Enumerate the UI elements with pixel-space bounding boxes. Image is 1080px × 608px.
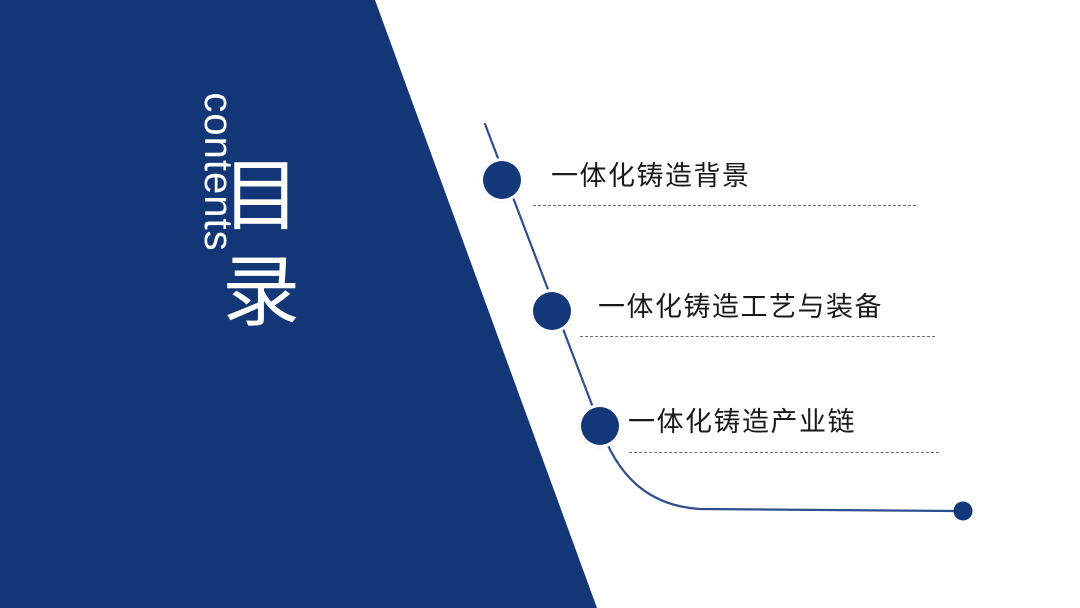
toc-label-1[interactable]: 一体化铸造背景 xyxy=(551,159,751,193)
toc-underline-1 xyxy=(533,205,916,206)
toc-underline-3 xyxy=(629,452,939,453)
slide-canvas: contents 目 录 一体化铸造背景 一体化铸造工艺与装备 一体化铸造产业链 xyxy=(0,0,1080,608)
toc-label-2[interactable]: 一体化铸造工艺与装备 xyxy=(598,290,883,324)
toc-bullet-dot-1 xyxy=(483,161,521,199)
curve-endpoint-dot xyxy=(954,502,973,521)
toc-bullet-dot-3 xyxy=(581,407,619,445)
toc-underline-2 xyxy=(580,336,935,337)
toc-bullet-dot-2 xyxy=(533,292,571,330)
toc-label-3[interactable]: 一体化铸造产业链 xyxy=(628,405,856,439)
